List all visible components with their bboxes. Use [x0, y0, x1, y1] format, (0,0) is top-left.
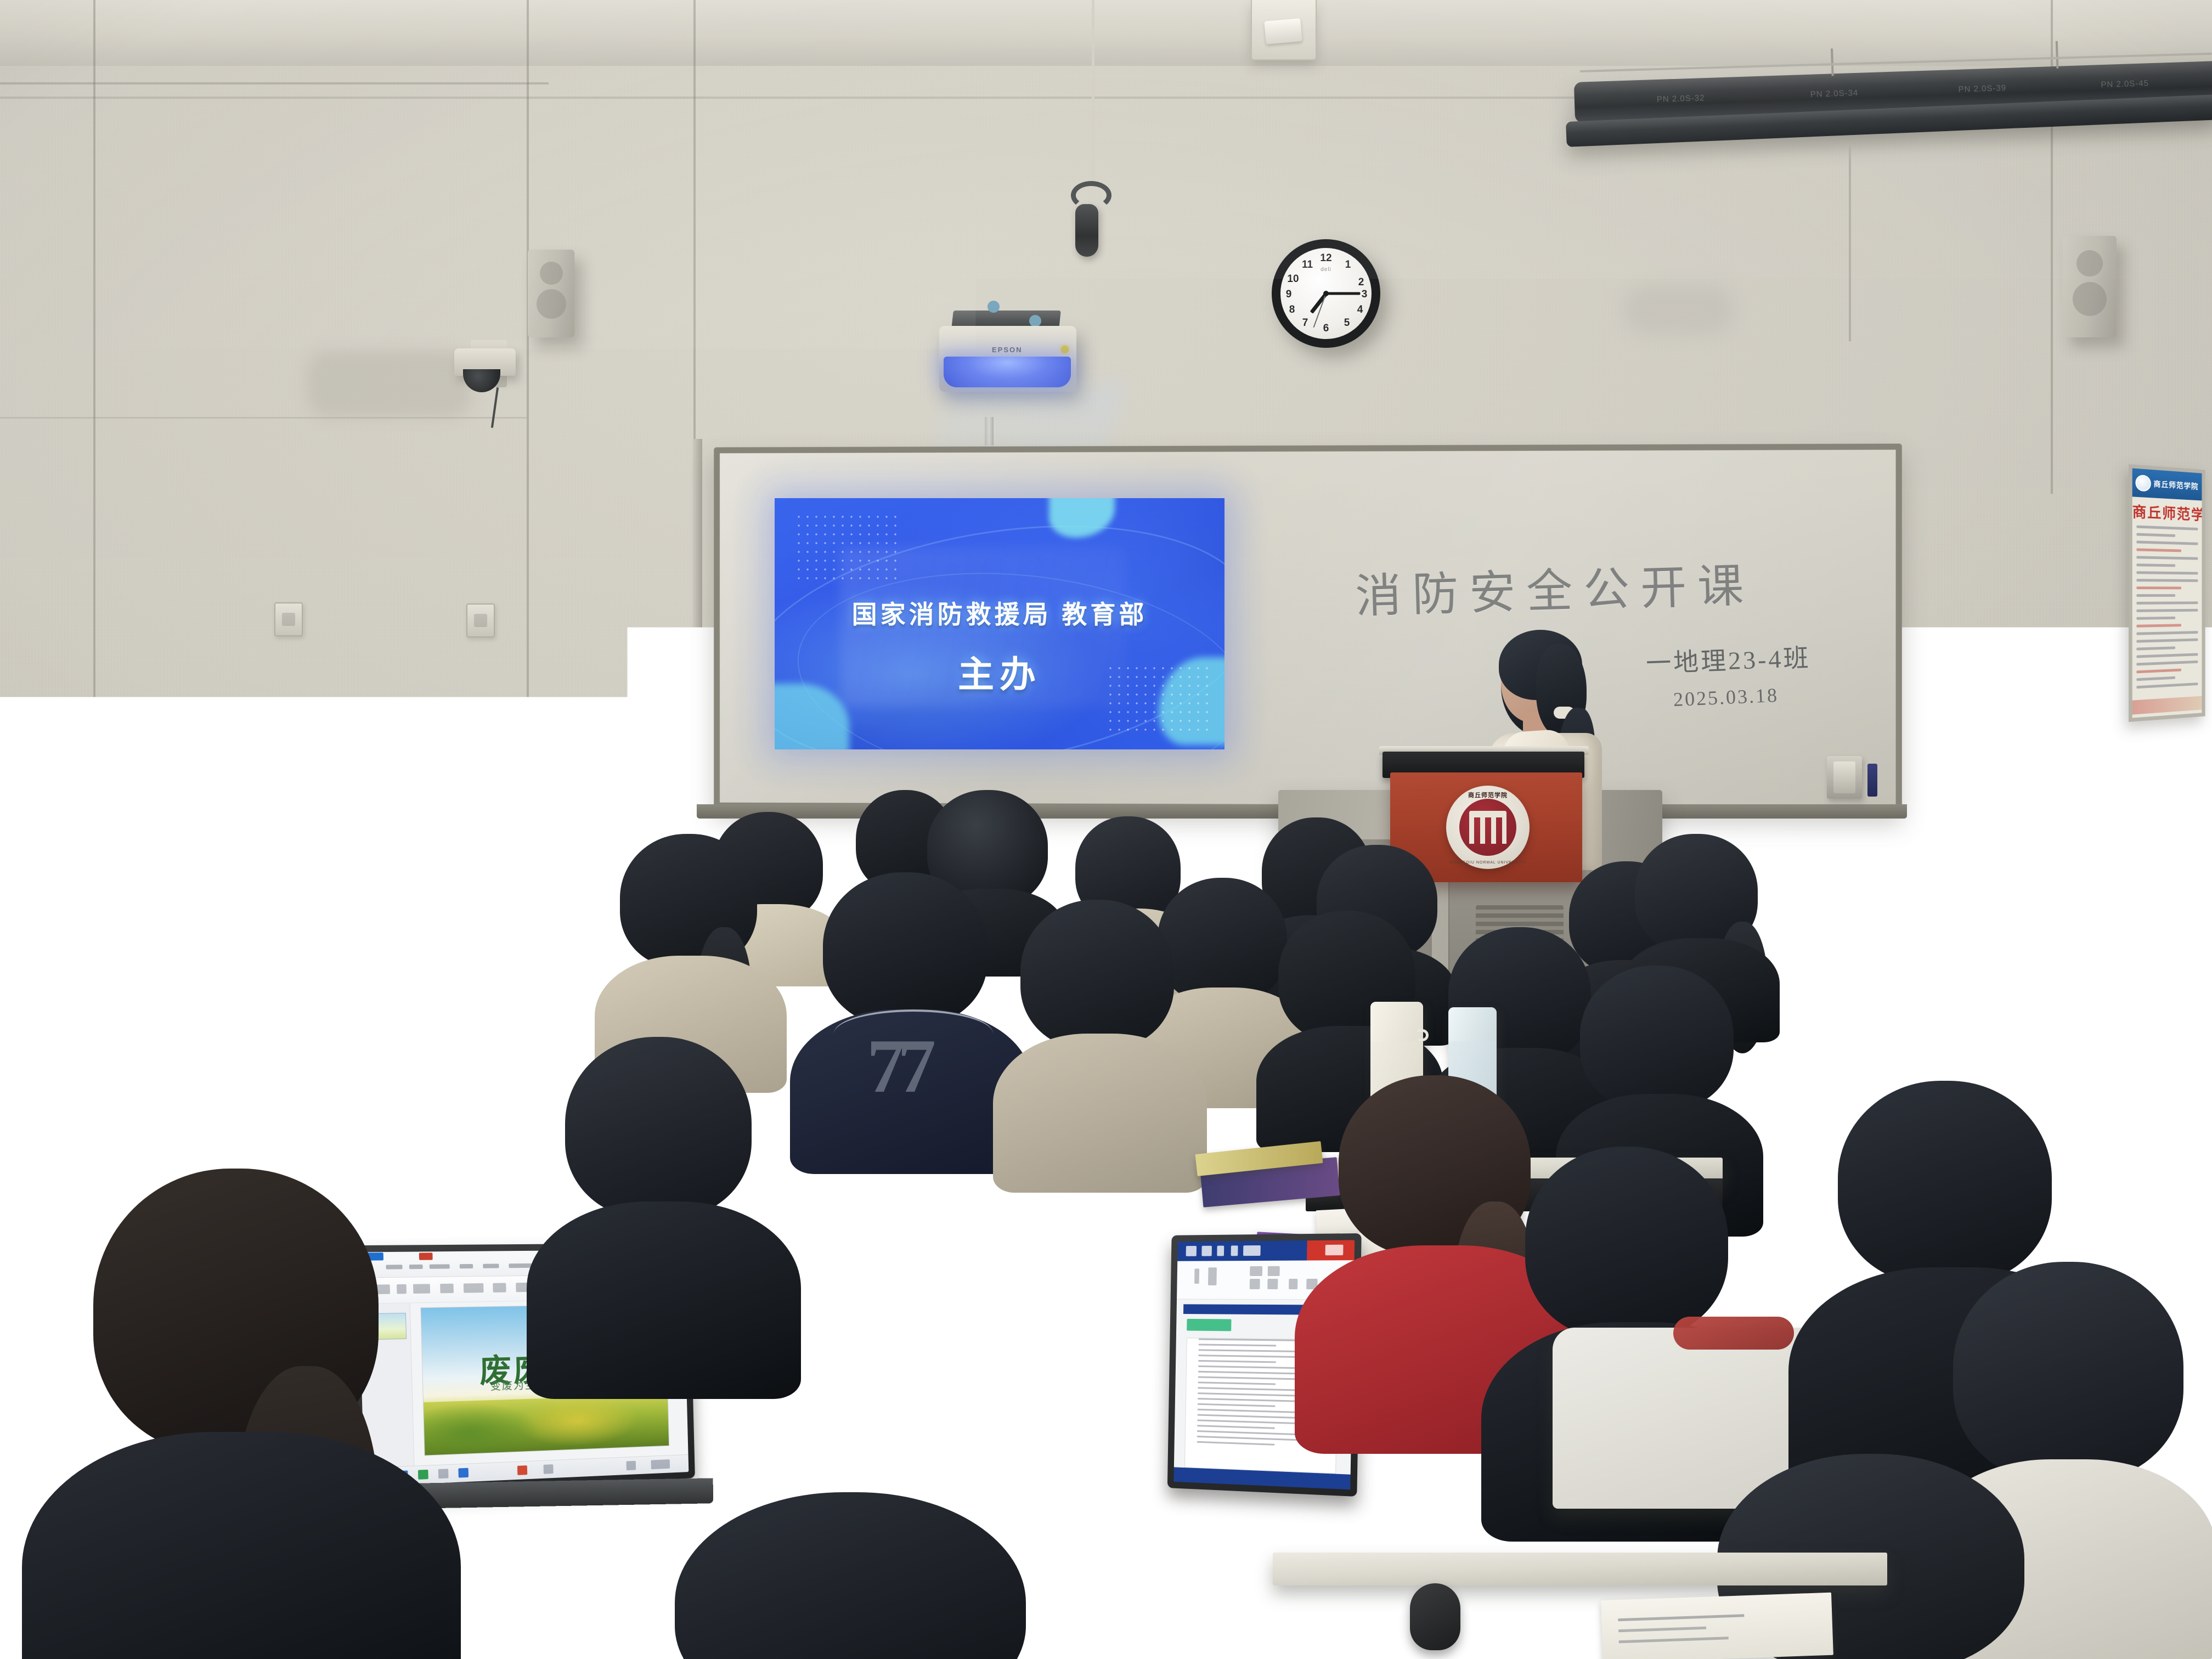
emblem-bottom-text: SHANGQIU NORMAL UNIVERSITY: [1446, 861, 1530, 865]
ppt-field-photo: [424, 1395, 669, 1455]
poster-header-band: 商丘师范学院: [2132, 468, 2202, 500]
empty-desk: [1997, 933, 2212, 951]
student-desk: [1273, 1553, 1887, 1585]
whiteboard-marker[interactable]: [1867, 764, 1877, 797]
projector-knob: [1029, 315, 1041, 327]
document-app-titlebar[interactable]: [1177, 1240, 1355, 1261]
empty-desk: [1893, 1031, 2211, 1048]
poster-logo-icon: [2135, 475, 2151, 492]
empty-desk: [2019, 883, 2212, 894]
slide-host-line: 主办: [775, 645, 1224, 698]
wall-clock-icon: deli 12 1 2 3 4 5 6 7 8 9 10 11: [1272, 239, 1380, 348]
jacket-graphic: 77: [834, 1009, 993, 1092]
slide-organizer-line: 国家消防救援局 教育部: [775, 595, 1224, 631]
ceiling-mount-plate: [1251, 0, 1317, 60]
slide-dot-pattern: [794, 512, 899, 584]
clock-numeral: 8: [1286, 304, 1298, 316]
wall-stain: [1624, 285, 1734, 335]
projector-status-led: [1061, 346, 1069, 353]
ceiling-microphone-icon: [1075, 204, 1098, 257]
chair-cushion: [1673, 1317, 1794, 1350]
laptop-screen[interactable]: [354, 1074, 447, 1181]
whiteboard-eraser[interactable]: [1827, 756, 1862, 799]
clock-numeral: 10: [1287, 273, 1299, 285]
information-poster: 商丘师范学院 商丘师范学院: [2129, 464, 2205, 722]
student: [93, 1169, 400, 1659]
ceiling-projector: EPSON: [939, 326, 1076, 392]
poster-footer-band: [2132, 696, 2202, 715]
paper-sheet: [1601, 1593, 1833, 1659]
wall-seam: [0, 97, 1575, 99]
paper-sheet: [180, 959, 269, 986]
student: [675, 1492, 1059, 1659]
clock-numeral: 12: [1320, 252, 1332, 264]
poster-title: 商丘师范学院: [2132, 500, 2202, 524]
wall-seam: [93, 0, 95, 856]
wall-socket[interactable]: [466, 603, 495, 637]
poster-body-text: [2136, 526, 2198, 699]
emblem-top-text: 商丘师范学院: [1446, 791, 1530, 799]
projector-lens: [944, 357, 1071, 387]
whiteboard-handwritten-date: 2025.03.18: [1673, 684, 1779, 711]
whiteboard-handwritten-title: 消防安全公开课: [1354, 549, 1755, 626]
ceiling: [0, 0, 2212, 66]
wall-conduit: [1849, 144, 1851, 341]
empty-chair-back: [0, 939, 137, 958]
clock-numeral: 1: [1342, 259, 1354, 271]
document-highlight-tag: [1187, 1319, 1232, 1331]
clock-minute-hand: [1326, 292, 1360, 295]
clock-numeral: 5: [1341, 317, 1353, 329]
wall-speaker-icon: [2063, 236, 2117, 337]
student: [565, 1037, 768, 1388]
clock-numeral: 3: [1358, 289, 1370, 301]
clock-numeral: 9: [1283, 289, 1295, 301]
hanging-cable: [1092, 0, 1094, 187]
university-emblem: 商丘师范学院 SHANGQIU NORMAL UNIVERSITY: [1446, 786, 1530, 869]
student: [1020, 900, 1185, 1174]
wall-seam: [693, 0, 696, 494]
wall-stain: [307, 351, 472, 417]
clock-numeral: 4: [1354, 304, 1366, 316]
wall-seam: [0, 417, 527, 419]
whiteboard-handwritten-class: 一地理23-4班: [1645, 638, 1811, 680]
clock-numeral: 7: [1299, 317, 1311, 329]
poster-band-text: 商丘师范学院: [2153, 478, 2198, 492]
wall-socket[interactable]: [1975, 768, 2007, 806]
clock-brand-label: deli: [1321, 267, 1331, 273]
projected-slide: 国家消防救援局 教育部 主办: [775, 498, 1224, 749]
paper-sheet: [701, 1423, 802, 1463]
desk-rail: [2024, 988, 2205, 994]
desk-leg: [327, 1002, 335, 1101]
desk-rail: [2024, 956, 2205, 963]
clock-numeral: 11: [1301, 259, 1313, 271]
clock-numeral: 6: [1320, 323, 1332, 335]
projector-knob: [988, 301, 1000, 313]
desk-rail: [181, 1006, 340, 1013]
clock-face: deli 12 1 2 3 4 5 6 7 8 9 10 11: [1280, 248, 1372, 339]
whiteboard-left-frame: [692, 439, 702, 823]
computer-mouse[interactable]: [1410, 1583, 1460, 1650]
wall-socket[interactable]: [274, 602, 303, 636]
wall-speaker-icon: [528, 250, 574, 337]
clock-center-pin: [1323, 291, 1329, 296]
dome-camera-icon: [454, 348, 516, 376]
wall-seam: [527, 0, 529, 922]
projector-brand-label: EPSON: [992, 346, 1023, 354]
clock-numeral: 2: [1355, 276, 1367, 289]
emblem-inner-mark: [1459, 799, 1516, 856]
wall-seam: [0, 82, 549, 84]
classroom-photo: PN 2.0S-32 PN 2.0S-34 PN 2.0S-39 PN 2.0S…: [0, 0, 2212, 1659]
